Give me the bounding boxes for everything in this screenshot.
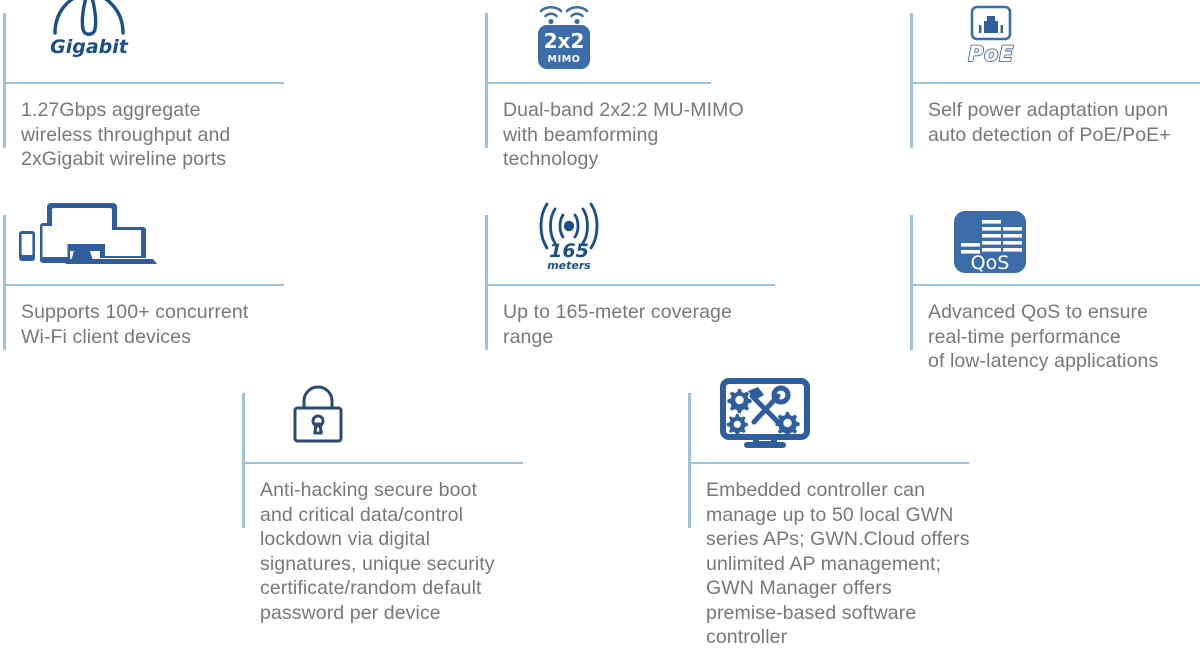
coverage-icon-sublabel: meters [547,259,591,272]
cell-vertical-rule [688,393,691,528]
cell-horizontal-rule [910,284,1200,286]
feature-cell-coverage: 165 meters Up to 165-meter coverage rang… [485,215,905,375]
cell-vertical-rule [910,13,913,148]
feature-cell-qos: QoS Advanced QoS to ensure real-time per… [910,215,1200,385]
qos-equalizer-icon: QoS [948,197,1032,277]
feature-description: Supports 100+ concurrent Wi-Fi client de… [21,300,351,349]
feature-cell-controller: Embedded controller can manage up to 50 … [688,393,1188,638]
multi-device-clients-icon [17,201,167,275]
feature-description: 1.27Gbps aggregate wireless throughput a… [21,98,351,172]
cell-horizontal-rule [910,82,1200,84]
cell-vertical-rule [485,215,488,350]
feature-cell-security: Anti-hacking secure boot and critical da… [242,393,662,638]
mimo-icon-sublabel: MIMO [548,54,581,65]
cell-vertical-rule [3,215,6,350]
feature-description: Advanced QoS to ensure real-time perform… [928,300,1200,374]
poe-icon-label: PoE [968,42,1014,66]
embedded-controller-monitor-tools-icon [718,378,822,454]
qos-icon-label: QoS [971,252,1010,274]
cell-horizontal-rule [3,82,284,84]
padlock-security-icon [288,381,358,453]
cell-vertical-rule [910,215,913,350]
feature-description: Embedded controller can manage up to 50 … [706,478,1056,650]
feature-grid: Gigabit 1.27Gbps aggregate wireless thro… [0,0,1200,638]
cell-horizontal-rule [242,462,523,464]
feature-cell-poe: PoE Self power adaptation upon auto dete… [910,13,1200,173]
poe-ethernet-port-icon: PoE [958,1,1034,73]
cell-vertical-rule [242,393,245,528]
feature-cell-clients: Supports 100+ concurrent Wi-Fi client de… [3,215,423,375]
feature-cell-mimo: 2x2 MIMO Dual-band 2x2:2 MU-MIMO with be… [485,13,905,173]
feature-cell-gigabit: Gigabit 1.27Gbps aggregate wireless thro… [3,13,423,173]
mimo-icon-label: 2x2 [544,29,585,53]
cell-vertical-rule [485,13,488,148]
gigabit-throughput-icon: Gigabit [43,0,139,75]
wireless-coverage-range-icon: 165 meters [533,203,617,275]
cell-horizontal-rule [688,462,969,464]
cell-horizontal-rule [3,284,284,286]
cell-vertical-rule [3,13,6,148]
2x2-mimo-icon: 2x2 MIMO [533,1,613,73]
cell-horizontal-rule [485,82,711,84]
cell-horizontal-rule [485,284,775,286]
feature-description: Up to 165-meter coverage range [503,300,843,349]
feature-description: Anti-hacking secure boot and critical da… [260,478,600,625]
gigabit-icon-label: Gigabit [50,36,129,58]
feature-description: Dual-band 2x2:2 MU-MIMO with beamforming… [503,98,863,172]
feature-description: Self power adaptation upon auto detectio… [928,98,1200,147]
